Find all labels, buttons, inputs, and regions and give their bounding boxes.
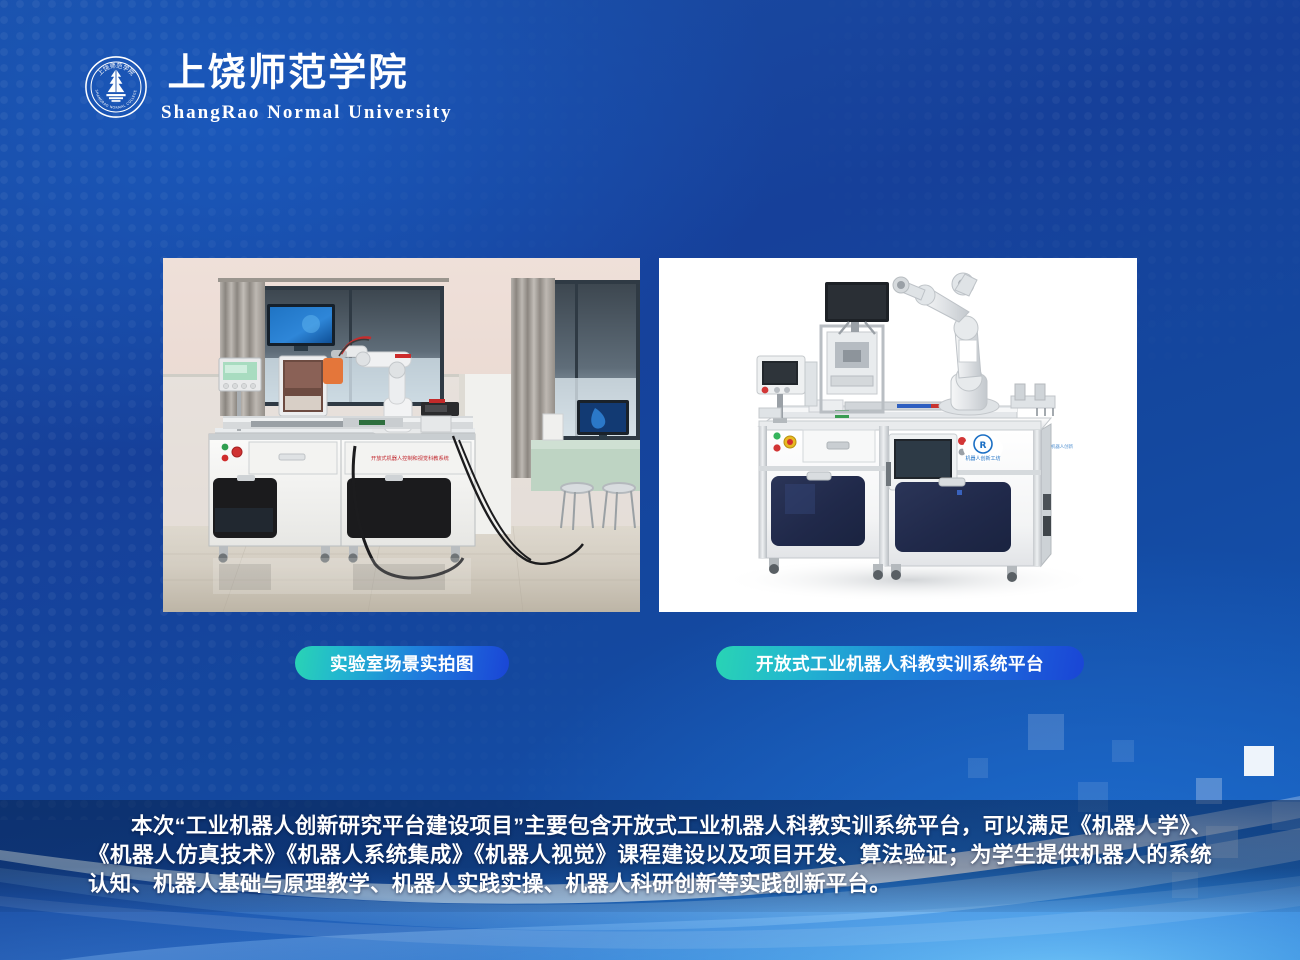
caption-pill-product-label: 开放式工业机器人科教实训系统平台 [756,651,1044,676]
lab-scene-photo: 开放式机器人控制和视觉科教系统 [163,258,640,612]
lab-machine-label: 开放式机器人控制和视觉科教系统 [371,454,449,462]
decor-square [1028,714,1064,750]
university-name-en: ShangRao Normal University [161,103,461,122]
description-paragraph: 本次“工业机器人创新研究平台建设项目”主要包含开放式工业机器人科教实训系统平台，… [88,812,1212,899]
product-badge: R 机器人创新工坊 [963,434,1003,462]
decor-square [1112,740,1134,762]
decor-square-highlight [1244,746,1274,776]
caption-pill-product[interactable]: 开放式工业机器人科教实训系统平台 [716,646,1084,680]
product-render-photo: R 机器人创新工坊 机器人创新 [659,258,1137,612]
caption-pill-lab-scene-label: 实验室场景实拍图 [330,651,474,676]
university-logo: 上饶师范学院 SHANGRAO NORMAL COLLEGE 上饶师范学院 Sh… [84,52,461,122]
caption-pill-lab-scene[interactable]: 实验室场景实拍图 [295,646,509,680]
university-name-cn-text: 上饶师范学院 [168,52,409,95]
svg-text:机器人创新: 机器人创新 [1051,443,1074,450]
product-badge-label: 机器人创新工坊 [965,455,1000,462]
decor-square [968,758,988,778]
svg-text:R: R [980,441,987,451]
university-crest-icon: 上饶师范学院 SHANGRAO NORMAL COLLEGE [84,55,148,119]
university-name-cn: 上饶师范学院 [161,52,461,96]
